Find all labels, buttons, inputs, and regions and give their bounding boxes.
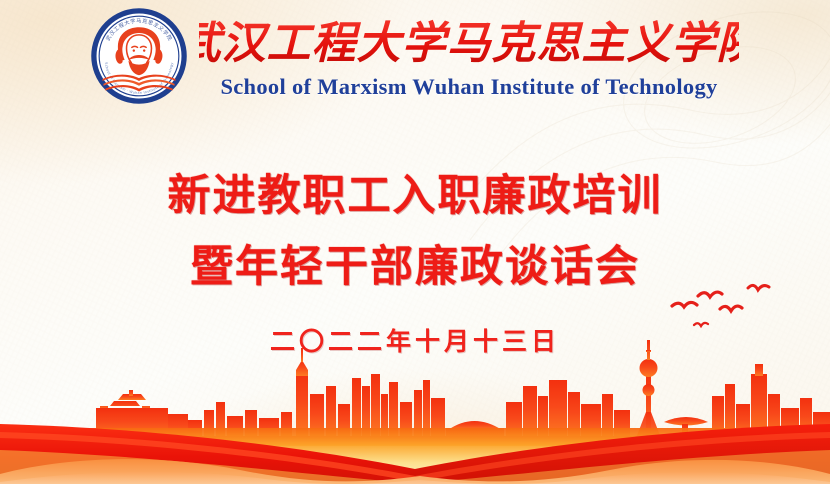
event-title-line-1: 新进教职工入职廉政培训 <box>0 168 830 225</box>
school-name-cn-text: 武汉工程大学马克思主义学院 <box>199 18 739 69</box>
poster-canvas: 武汉工程大学马克思主义学院 武汉工程大学马克思主义学院 School of Ma… <box>0 0 830 484</box>
school-name-block: 武汉工程大学马克思主义学院 武汉工程大学马克思主义学院 School of Ma… <box>199 12 739 100</box>
bottom-scenery <box>0 324 830 484</box>
school-name-en: School of Marxism Wuhan Institute of Tec… <box>220 74 717 100</box>
header: 武汉工程大学马克思主义学院 武汉工程大学马克思主义学院 School of Ma… <box>0 8 830 104</box>
school-crest-icon: 武汉工程大学马克思主义学院 武汉工程大学马克思主义学院 School of Ma… <box>91 8 187 104</box>
school-name-cn: 武汉工程大学马克思主义学院 武汉工程大学马克思主义学院 <box>199 12 739 72</box>
